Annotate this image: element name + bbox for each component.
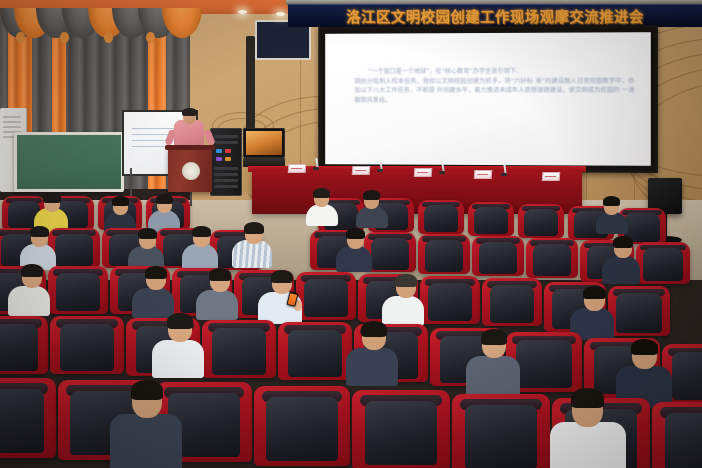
microphone-base — [501, 173, 507, 176]
event-banner: 洛江区文明校园创建工作现场观摩交流推进会 — [288, 4, 702, 27]
slide-paragraph: “一个窗口是一个地球”，在“核心教育”办学主张引领下， 固执分层制人权本任务，我… — [354, 67, 634, 106]
projection-screen: “一个窗口是一个地球”，在“核心教育”办学主张引领下， 固执分层制人权本任务，我… — [318, 25, 658, 173]
seat — [0, 316, 48, 374]
seat — [254, 386, 350, 466]
ceiling-light — [276, 12, 285, 16]
seat — [652, 402, 702, 468]
presenter-hair — [182, 108, 197, 116]
seat — [420, 276, 480, 324]
seat — [526, 238, 578, 278]
school-crest-icon — [182, 162, 200, 180]
seat — [48, 266, 108, 314]
seat — [468, 202, 514, 236]
seat — [0, 378, 56, 458]
name-card — [542, 172, 561, 181]
slide-line: 固执分层制人权本任务，我校以文明校园创建为抓手，将“六好标 — [354, 78, 533, 85]
slide-line: 升创建水平，着力推进未成年人思想道德建设，使文明成为校园的 — [437, 87, 620, 94]
seat — [418, 200, 464, 234]
seat — [472, 236, 524, 276]
seat — [202, 320, 276, 378]
seat — [50, 316, 124, 374]
green-chalkboard — [14, 132, 124, 192]
seat — [452, 394, 550, 468]
slide-line: “一个窗口是一个地球”，在“核心教育”办学主张引领下， — [354, 67, 634, 77]
projection-screen-surface: “一个窗口是一个地球”，在“核心教育”办学主张引领下， 固执分层制人权本任务，我… — [325, 32, 651, 166]
microphone-base — [313, 167, 319, 170]
name-card — [352, 166, 371, 175]
seat — [352, 390, 450, 468]
name-card — [474, 170, 493, 179]
seat — [278, 322, 352, 380]
seat — [482, 278, 542, 326]
av-equipment-rack — [210, 128, 242, 196]
seat — [636, 242, 690, 284]
name-card — [414, 168, 433, 177]
seat — [518, 204, 564, 238]
microphone-base — [439, 171, 445, 174]
banner-title: 洛江区文明校园创建工作现场观摩交流推进会 — [346, 6, 644, 27]
seat — [608, 286, 670, 336]
seat — [296, 272, 356, 320]
podium — [168, 148, 212, 192]
confidence-monitor — [243, 128, 285, 158]
ceiling-light — [238, 10, 247, 14]
name-card — [288, 164, 307, 173]
auditorium-photo: 洛江区文明校园创建工作现场观摩交流推进会 “一个窗口是一个地球”，在“核心教育”… — [0, 0, 702, 468]
microphone-base — [377, 169, 383, 172]
seat — [418, 234, 470, 274]
curtain-valance — [0, 8, 200, 42]
wall-speaker-column — [246, 36, 255, 134]
